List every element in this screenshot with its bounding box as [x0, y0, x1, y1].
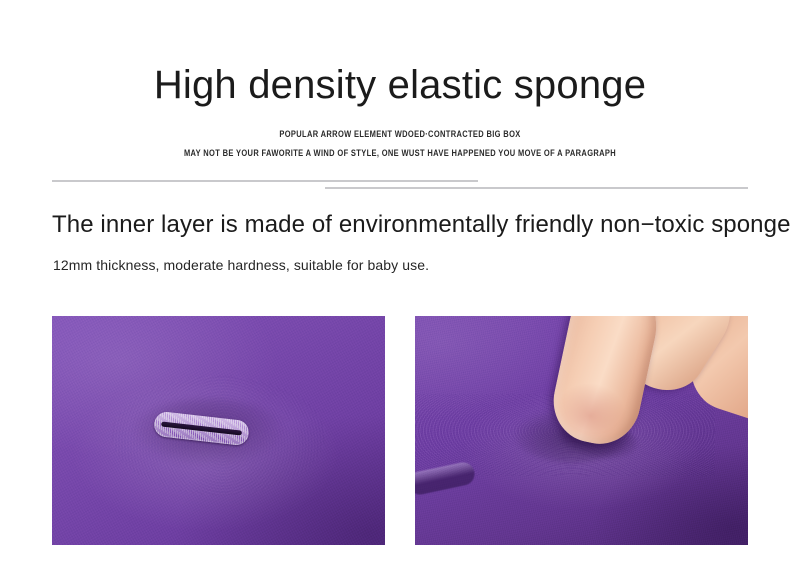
section-caption: 12mm thickness, moderate hardness, suita…	[53, 257, 429, 273]
finger-press-sponge-photo	[415, 316, 748, 545]
product-detail-page: High density elastic sponge POPULAR ARRO…	[0, 0, 800, 566]
divider-rule-upper	[52, 180, 478, 182]
divider-rule-lower	[325, 187, 748, 189]
section-heading: The inner layer is made of environmental…	[52, 211, 791, 239]
subtitle-line-2: MAY NOT BE YOUR FAWORITE A WIND OF STYLE…	[0, 147, 800, 158]
photo-gallery	[52, 316, 748, 545]
purple-fabric-buttonhole-photo	[52, 316, 385, 545]
page-title: High density elastic sponge	[0, 63, 800, 107]
subtitle-line-1: POPULAR ARROW ELEMENT WDOED·CONTRACTED B…	[0, 128, 800, 139]
